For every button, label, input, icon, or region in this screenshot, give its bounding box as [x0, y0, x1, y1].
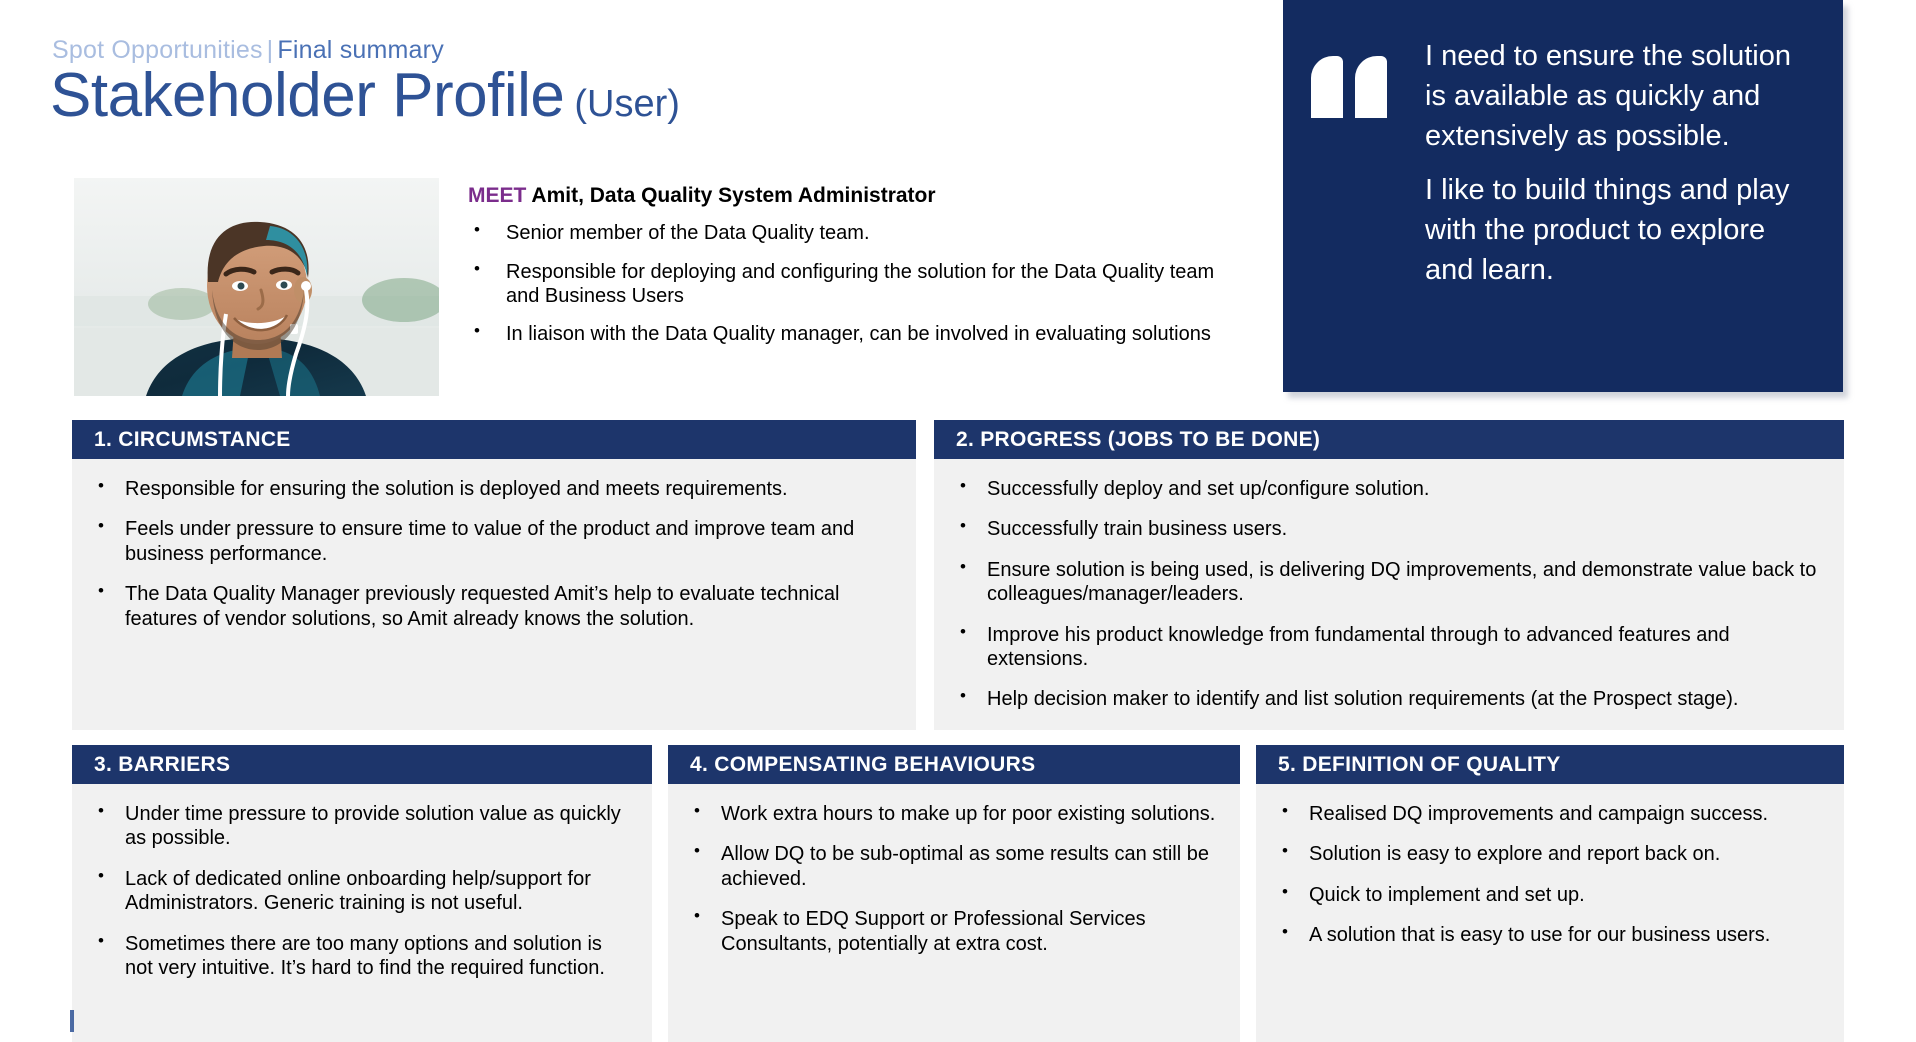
panel-barriers: 3. BARRIERS Under time pressure to provi… — [72, 745, 652, 1042]
list-item: Work extra hours to make up for poor exi… — [688, 802, 1220, 826]
panel-title: 5. DEFINITION OF QUALITY — [1256, 745, 1844, 784]
list-item: A solution that is easy to use for our b… — [1276, 923, 1824, 947]
list-item: Ensure solution is being used, is delive… — [954, 558, 1824, 607]
quote-paragraph: I need to ensure the solution is availab… — [1425, 36, 1817, 156]
quote-text: I need to ensure the solution is availab… — [1425, 36, 1817, 304]
panel-bullet-list: Responsible for ensuring the solution is… — [92, 477, 896, 631]
list-item: Senior member of the Data Quality team. — [468, 221, 1228, 245]
list-item: Speak to EDQ Support or Professional Ser… — [688, 907, 1220, 956]
panel-title: 4. COMPENSATING BEHAVIOURS — [668, 745, 1240, 784]
quote-card: I need to ensure the solution is availab… — [1283, 0, 1843, 392]
panel-body: Work extra hours to make up for poor exi… — [668, 784, 1240, 986]
quote-paragraph: I like to build things and play with the… — [1425, 170, 1817, 290]
page-title: Stakeholder Profile(User) — [50, 60, 680, 131]
panel-bullet-list: Successfully deploy and set up/configure… — [954, 477, 1824, 712]
meet-label: MEET — [468, 184, 526, 207]
meet-heading: MEET Amit, Data Quality System Administr… — [468, 183, 1228, 208]
slide-edge-marker — [70, 1010, 74, 1032]
list-item: Help decision maker to identify and list… — [954, 687, 1824, 711]
list-item: Lack of dedicated online onboarding help… — [92, 867, 632, 916]
page-title-main: Stakeholder Profile — [50, 61, 564, 130]
list-item: In liaison with the Data Quality manager… — [468, 322, 1228, 346]
panel-definition-of-quality: 5. DEFINITION OF QUALITY Realised DQ imp… — [1256, 745, 1844, 1042]
list-item: Improve his product knowledge from funda… — [954, 623, 1824, 672]
profile-bullet-list: Senior member of the Data Quality team. … — [468, 221, 1228, 347]
list-item: Responsible for ensuring the solution is… — [92, 477, 896, 501]
list-item: Feels under pressure to ensure time to v… — [92, 517, 896, 566]
panel-title: 2. PROGRESS (JOBS TO BE DONE) — [934, 420, 1844, 459]
open-quote-icon — [1311, 28, 1403, 114]
page-title-sub: (User) — [574, 83, 680, 125]
stakeholder-photo — [74, 178, 439, 396]
meet-section: MEET Amit, Data Quality System Administr… — [468, 183, 1228, 361]
panel-title: 1. CIRCUMSTANCE — [72, 420, 916, 459]
panel-bullet-list: Work extra hours to make up for poor exi… — [688, 802, 1220, 956]
panel-title: 3. BARRIERS — [72, 745, 652, 784]
list-item: Sometimes there are too many options and… — [92, 932, 632, 981]
list-item: Solution is easy to explore and report b… — [1276, 842, 1824, 866]
list-item: The Data Quality Manager previously requ… — [92, 582, 896, 631]
list-item: Quick to implement and set up. — [1276, 883, 1824, 907]
meet-name: Amit, Data Quality System Administrator — [526, 184, 935, 207]
list-item: Responsible for deploying and configurin… — [468, 260, 1228, 309]
list-item: Under time pressure to provide solution … — [92, 802, 632, 851]
list-item: Successfully train business users. — [954, 517, 1824, 541]
list-item: Realised DQ improvements and campaign su… — [1276, 802, 1824, 826]
panel-progress: 2. PROGRESS (JOBS TO BE DONE) Successful… — [934, 420, 1844, 730]
panel-body: Realised DQ improvements and campaign su… — [1256, 784, 1844, 978]
panel-bullet-list: Under time pressure to provide solution … — [92, 802, 632, 980]
list-item: Allow DQ to be sub-optimal as some resul… — [688, 842, 1220, 891]
panel-bullet-list: Realised DQ improvements and campaign su… — [1276, 802, 1824, 948]
list-item: Successfully deploy and set up/configure… — [954, 477, 1824, 501]
panel-body: Successfully deploy and set up/configure… — [934, 459, 1844, 742]
panel-body: Under time pressure to provide solution … — [72, 784, 652, 1010]
portrait-illustration — [74, 178, 439, 396]
panel-body: Responsible for ensuring the solution is… — [72, 459, 916, 661]
panel-compensating-behaviours: 4. COMPENSATING BEHAVIOURS Work extra ho… — [668, 745, 1240, 1042]
panel-circumstance: 1. CIRCUMSTANCE Responsible for ensuring… — [72, 420, 916, 730]
